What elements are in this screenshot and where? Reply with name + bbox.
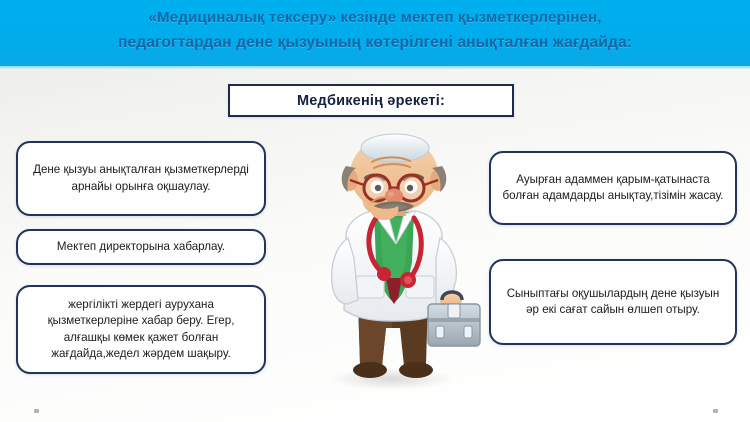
doctor-illustration: [300, 132, 490, 394]
callout-measure-temperature: Сыныптағы оқушылардың дене қызуын әр екі…: [489, 259, 737, 345]
callout-text: Сыныптағы оқушылардың дене қызуын әр екі…: [501, 286, 725, 319]
callout-text: Ауырған адаммен қарым-қатынаста болған а…: [501, 172, 725, 205]
callout-text: Дене қызуы анықталған қызметкерлерді арн…: [28, 162, 254, 195]
caption-box: Медбикенің әрекеті:: [228, 84, 514, 117]
callout-notify-director: Мектеп директорына хабарлау.: [16, 229, 266, 265]
callout-text: Мектеп директорына хабарлау.: [28, 239, 254, 256]
callout-isolate-staff: Дене қызуы анықталған қызметкерлерді арн…: [16, 141, 266, 216]
callout-notify-hospital: жергілікті жердегі аурухана қызметкерлер…: [16, 285, 266, 374]
doctor-icon: [300, 132, 490, 394]
bottom-left-mark: [34, 409, 39, 413]
slide-root: «Медициналық тексеру» кезінде мектеп қыз…: [0, 0, 750, 422]
callout-text: жергілікті жердегі аурухана қызметкерлер…: [28, 297, 254, 363]
callout-identify-contacts: Ауырған адаммен қарым-қатынаста болған а…: [489, 151, 737, 225]
bottom-right-mark: [713, 409, 718, 413]
page-title-line-2: педагогтардан дене қызуының көтерілгені …: [0, 30, 750, 55]
page-title: «Медициналық тексеру» кезінде мектеп қыз…: [0, 5, 750, 55]
caption-box-label: Медбикенің әрекеті:: [297, 93, 445, 109]
page-title-line-1: «Медициналық тексеру» кезінде мектеп қыз…: [0, 5, 750, 30]
